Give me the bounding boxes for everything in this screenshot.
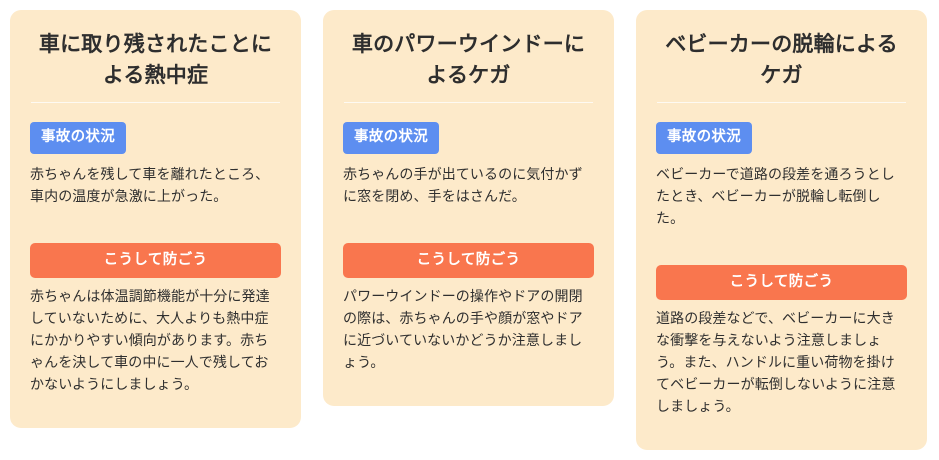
situation-text: ベビーカーで道路の段差を通ろうとしたとき、ベビーカーが脱輪し転倒した。 <box>656 164 907 230</box>
prevention-button[interactable]: こうして防ごう <box>656 265 907 301</box>
situation-badge: 事故の状況 <box>30 122 126 154</box>
prevention-text: パワーウインドーの操作やドアの開閉の際は、赤ちゃんの手や顔が窓やドアに近づいてい… <box>343 286 594 374</box>
prevention-text: 道路の段差などで、ベビーカーに大きな衝撃を与えないよう注意しましょう。また、ハン… <box>656 308 907 418</box>
card-divider <box>657 102 906 103</box>
card-title: ベビーカーの脱輪によるケガ <box>656 29 907 91</box>
safety-cards-row: 車に取り残されたことによる熱中症 事故の状況 赤ちゃんを残して車を離れたところ、… <box>0 0 939 460</box>
card-divider <box>31 102 280 103</box>
safety-card-stroller: ベビーカーの脱輪によるケガ 事故の状況 ベビーカーで道路の段差を通ろうとしたとき… <box>636 10 927 450</box>
situation-badge: 事故の状況 <box>343 122 439 154</box>
prevention-text: 赤ちゃんは体温調節機能が十分に発達していないために、大人よりも熱中症にかかりやす… <box>30 286 281 396</box>
safety-card-power-window: 車のパワーウインドーによるケガ 事故の状況 赤ちゃんの手が出ているのに気付かずに… <box>323 10 614 406</box>
situation-text: 赤ちゃんの手が出ているのに気付かずに窓を閉め、手をはさんだ。 <box>343 164 594 208</box>
card-divider <box>344 102 593 103</box>
prevention-button[interactable]: こうして防ごう <box>343 243 594 279</box>
safety-card-heatstroke: 車に取り残されたことによる熱中症 事故の状況 赤ちゃんを残して車を離れたところ、… <box>10 10 301 428</box>
prevention-button[interactable]: こうして防ごう <box>30 243 281 279</box>
situation-badge: 事故の状況 <box>656 122 752 154</box>
card-title: 車に取り残されたことによる熱中症 <box>30 29 281 91</box>
card-title: 車のパワーウインドーによるケガ <box>343 29 594 91</box>
situation-text: 赤ちゃんを残して車を離れたところ、車内の温度が急激に上がった。 <box>30 164 281 208</box>
